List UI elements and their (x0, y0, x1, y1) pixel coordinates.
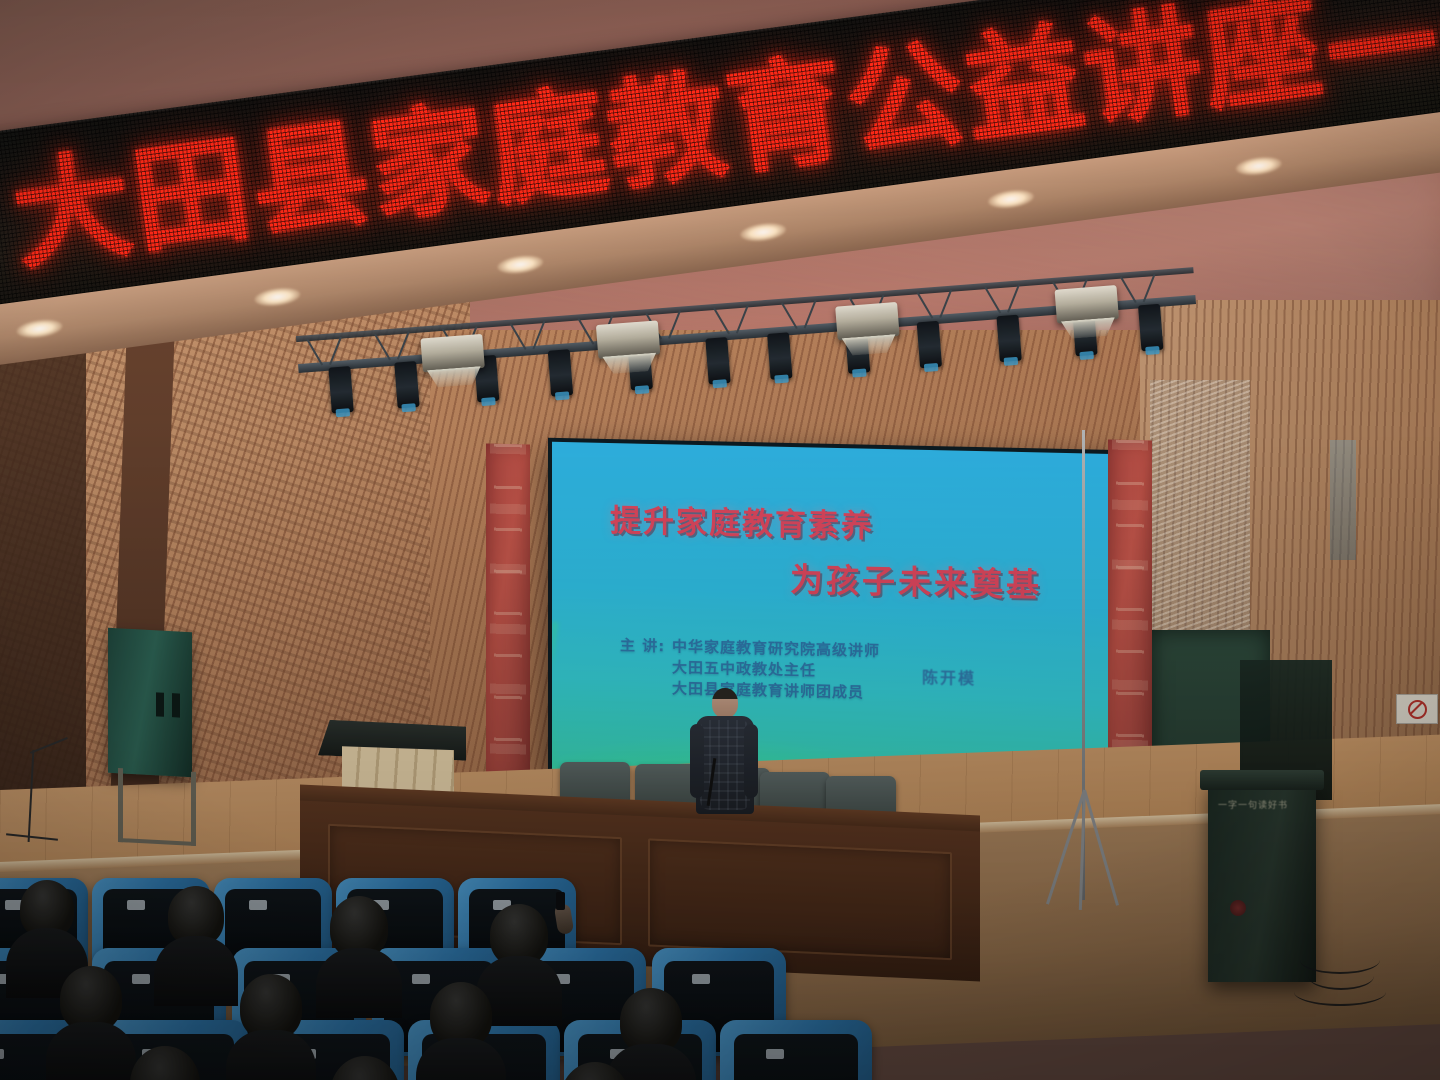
downlight-4 (739, 221, 787, 244)
lectern-slogan-text: 一字一句读好书 (1218, 798, 1288, 811)
presenter-arm-right (744, 724, 758, 798)
speaker-stand (118, 768, 196, 846)
stage-light-4 (548, 349, 573, 397)
truss-brace-7 (510, 323, 527, 350)
decorative-column-left (486, 444, 530, 785)
downlight-2 (254, 285, 302, 308)
slide-credit-line-2: 大田五中政教处主任 (672, 658, 816, 679)
auditorium-photo: 大田县家庭教育公益讲座——大田实小专场 提升家庭教育素养 为孩子未来奠基 主 讲… (0, 0, 1440, 1080)
stage-light-7 (767, 332, 792, 380)
stage-light-12 (1138, 304, 1163, 352)
downlight-3 (496, 253, 544, 276)
audience-phone (556, 892, 565, 910)
slide-credit-line-1: 中华家庭教育研究院高级讲师 (672, 637, 880, 660)
slide-title-line-1: 提升家庭教育素养 (610, 495, 874, 546)
truss-brace-21 (984, 287, 1001, 314)
projection-screen-surface: 提升家庭教育素养 为孩子未来奠基 主 讲:中华家庭教育研究院高级讲师 大田五中政… (552, 442, 1122, 784)
audience-seat-tag (132, 974, 150, 984)
downlight-1 (16, 317, 64, 340)
audience-seating (0, 870, 880, 1080)
audience-seat-tag (766, 1049, 784, 1059)
decorative-column-right (1108, 440, 1152, 791)
slide-credit-label: 主 讲: (620, 635, 672, 657)
projection-screen: 提升家庭教育素养 为孩子未来奠基 主 讲:中华家庭教育研究院高级讲师 大田五中政… (548, 438, 1126, 789)
audience-member-shoulders-5 (46, 1022, 136, 1080)
downlight-5 (987, 188, 1035, 211)
presenter-head (712, 688, 738, 718)
pa-speaker-left (108, 628, 192, 777)
audience-member-shoulders-3 (316, 948, 402, 1018)
fresnel-light-1 (420, 334, 484, 373)
truss-brace-1 (306, 339, 323, 366)
audience-member-shoulders-2 (154, 936, 238, 1006)
audience-seat-r3-c6 (720, 1020, 872, 1080)
audience-seat-tag (412, 974, 430, 984)
stage-light-1 (328, 366, 353, 414)
truss-brace-19 (916, 292, 933, 319)
truss-brace-9 (577, 318, 594, 345)
cable-3 (1294, 978, 1386, 1006)
presenter (690, 688, 760, 848)
truss-brace-3 (374, 334, 391, 361)
downlight-6 (1235, 155, 1283, 178)
audience-seat-tag (0, 1049, 4, 1059)
truss-brace-25 (1120, 276, 1137, 303)
audience-seat-tag (127, 900, 145, 910)
speaker-port-2 (172, 693, 180, 717)
slide-speaker-name: 陈开模 (922, 664, 976, 689)
stage-light-9 (917, 321, 942, 369)
no-smoking-icon (1408, 700, 1427, 719)
slide-credit-spacer-1 (620, 671, 672, 672)
audience-seat-tag (249, 900, 267, 910)
truss-brace-13 (713, 307, 730, 334)
stage-light-10 (996, 315, 1021, 363)
truss-brace-15 (781, 302, 798, 329)
stage-light-2 (394, 361, 419, 409)
no-smoking-sign (1396, 694, 1438, 724)
slide-credit-spacer-2 (620, 692, 672, 693)
slide-title-line-2: 为孩子未来奠基 (790, 553, 1042, 606)
right-wall-fixture (1330, 440, 1356, 560)
fresnel-light-2 (596, 320, 660, 359)
presenter-arm-left (690, 724, 704, 798)
audience-seat-back (734, 1034, 859, 1080)
lectern-top-surface (1200, 770, 1324, 790)
stage-light-6 (705, 337, 730, 385)
fresnel-light-3 (835, 302, 899, 341)
lectern-emblem (1230, 900, 1246, 916)
audience-seat-tag (692, 974, 710, 984)
speaker-port-1 (156, 692, 164, 716)
cable-bundle (1300, 940, 1420, 1010)
fresnel-light-4 (1055, 285, 1119, 324)
